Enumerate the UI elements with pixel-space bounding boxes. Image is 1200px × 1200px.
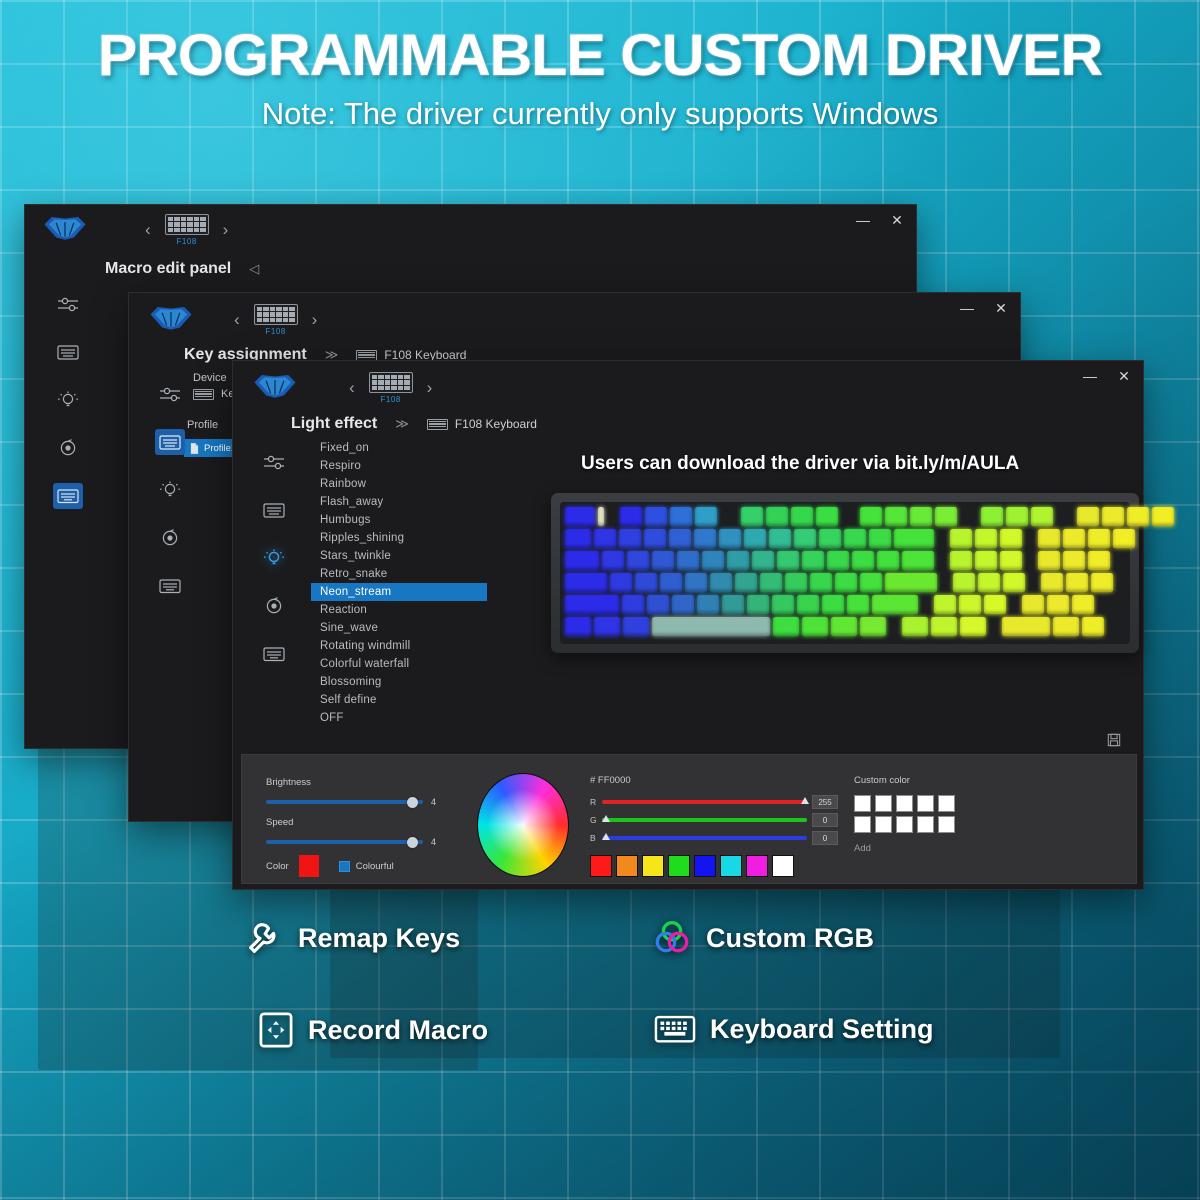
rgb-slider-knob[interactable]: [602, 833, 610, 840]
keyboard-key[interactable]: [772, 595, 794, 614]
light-effect-item[interactable]: Ripples_shining: [311, 529, 487, 547]
colourful-label: Colourful: [356, 861, 394, 872]
keyboard-key[interactable]: [565, 551, 599, 570]
light-effect-item[interactable]: Colorful waterfall: [311, 655, 487, 673]
keyboard-key[interactable]: [816, 507, 838, 526]
keyboard-key[interactable]: [741, 507, 763, 526]
light-effect-item[interactable]: Stars_twinkle: [311, 547, 487, 565]
keyboard-key[interactable]: [1152, 507, 1174, 526]
window-light-effect[interactable]: — ✕ ‹ F108 › Light effect ≫ F108 Keyboar…: [232, 360, 1144, 890]
device-thumb-keyassign[interactable]: F108: [254, 304, 298, 336]
sidebar-item-key-assignment[interactable]: [259, 497, 289, 523]
keyboard-key[interactable]: [981, 507, 1003, 526]
mini-keyboard-icon: [427, 419, 448, 430]
custom-color-label: Custom color: [854, 775, 955, 786]
custom-color-slot[interactable]: [896, 816, 913, 833]
keyboard-key[interactable]: [794, 529, 816, 548]
rgb-row-r[interactable]: R255: [590, 795, 838, 809]
custom-color-section[interactable]: Custom color Add: [854, 775, 955, 854]
keyboard-key[interactable]: [1000, 551, 1022, 570]
feature-label: Keyboard Setting: [710, 1014, 934, 1045]
keyboard-key[interactable]: [910, 507, 932, 526]
preset-color-swatch[interactable]: [720, 855, 742, 877]
breadcrumb-device-label: F108 Keyboard: [455, 417, 537, 431]
color-wheel[interactable]: [477, 773, 569, 877]
keyboard-key[interactable]: [984, 595, 1006, 614]
keyboard-key[interactable]: [1102, 507, 1124, 526]
device-name-label: F108: [369, 395, 413, 404]
keyboard-key[interactable]: [937, 529, 947, 548]
brightness-value: 4: [431, 797, 436, 807]
custom-color-slot[interactable]: [875, 816, 892, 833]
rgb-value-field[interactable]: 0: [812, 831, 838, 845]
feature-label: Custom RGB: [706, 923, 874, 954]
keyboard-key[interactable]: [835, 573, 857, 592]
sidebar-keyassign[interactable]: [147, 381, 193, 599]
sidebar-light[interactable]: [251, 449, 297, 667]
sidebar-item-settings[interactable]: [259, 449, 289, 475]
color-label: Color: [266, 861, 289, 872]
rgb-slider[interactable]: [602, 836, 807, 840]
rgb-slider-knob[interactable]: [602, 815, 610, 822]
keyboard-row: [565, 551, 1125, 570]
rgb-slider-rows[interactable]: R255G0B0: [590, 795, 838, 845]
keyboard-key[interactable]: [1025, 529, 1035, 548]
rgb-control-strip[interactable]: Brightness 4 Speed 4 Color Colour: [241, 754, 1137, 884]
rgb-row-g[interactable]: G0: [590, 813, 838, 827]
light-effect-item[interactable]: Blossoming: [311, 673, 487, 691]
keyboard-key[interactable]: [1031, 507, 1053, 526]
sidebar-item-keyboard-setting[interactable]: [53, 483, 83, 509]
keyboard-key[interactable]: [1088, 529, 1110, 548]
preset-color-swatch[interactable]: [694, 855, 716, 877]
prev-device-button[interactable]: ‹: [234, 310, 240, 330]
rgb-slider[interactable]: [602, 800, 807, 804]
keyboard-key[interactable]: [841, 507, 857, 526]
color-presets[interactable]: [590, 855, 838, 877]
keyboard-key[interactable]: [960, 507, 978, 526]
sidebar-item-settings[interactable]: [155, 381, 185, 407]
keyboard-key[interactable]: [894, 529, 934, 548]
keyboard-key[interactable]: [672, 595, 694, 614]
keyboard-key[interactable]: [885, 573, 937, 592]
collapse-icon[interactable]: ◁: [249, 261, 259, 277]
keyboard-key[interactable]: [695, 507, 717, 526]
rgb-circles-icon: [652, 918, 692, 958]
keyboard-key[interactable]: [1038, 551, 1060, 570]
keyboard-key[interactable]: [902, 551, 934, 570]
prev-device-button[interactable]: ‹: [145, 220, 151, 240]
custom-color-slot[interactable]: [938, 816, 955, 833]
checkbox-box-icon[interactable]: [339, 861, 350, 872]
keyboard-key[interactable]: [669, 529, 691, 548]
custom-color-slot[interactable]: [917, 816, 934, 833]
custom-color-slot[interactable]: [917, 795, 934, 812]
keyboard-key[interactable]: [652, 617, 770, 636]
brightness-control[interactable]: Brightness 4: [266, 777, 436, 807]
keyboard-key[interactable]: [1056, 507, 1074, 526]
save-icon[interactable]: [1107, 733, 1121, 752]
keyboard-preview[interactable]: [551, 493, 1139, 653]
keyboard-key[interactable]: [694, 529, 716, 548]
headline-block: PROGRAMMABLE CUSTOM DRIVER Note: The dri…: [0, 26, 1200, 132]
preset-color-swatch[interactable]: [746, 855, 768, 877]
keyboard-key[interactable]: [902, 617, 928, 636]
keyboard-thumb-icon: [254, 304, 298, 325]
sidebar-macro[interactable]: [45, 291, 91, 509]
keyboard-key[interactable]: [610, 573, 632, 592]
next-device-button[interactable]: ›: [312, 310, 318, 330]
keyboard-key[interactable]: [773, 617, 799, 636]
keyboard-key[interactable]: [1066, 573, 1088, 592]
minimize-button[interactable]: —: [854, 211, 872, 229]
light-effect-item[interactable]: Rainbow: [311, 475, 487, 493]
light-effect-item[interactable]: Self define: [311, 691, 487, 709]
rgb-channel-label: B: [590, 833, 597, 843]
keyboard-key[interactable]: [644, 529, 666, 548]
keyboard-key[interactable]: [953, 573, 975, 592]
keyboard-key[interactable]: [827, 551, 849, 570]
device-name-label: F108: [254, 327, 298, 336]
keyboard-key[interactable]: [697, 595, 719, 614]
keyboard-key[interactable]: [877, 551, 899, 570]
keyboard-key[interactable]: [565, 617, 591, 636]
keyboard-key[interactable]: [989, 617, 999, 636]
keyboard-key[interactable]: [777, 551, 799, 570]
keyboard-key[interactable]: [785, 573, 807, 592]
keyboard-key[interactable]: [766, 507, 788, 526]
device-carousel-keyassign[interactable]: ‹ F108 ›: [234, 304, 317, 336]
keyboard-key[interactable]: [1025, 551, 1035, 570]
brightness-label: Brightness: [266, 777, 436, 788]
keyboard-key[interactable]: [752, 551, 774, 570]
rgb-slider-knob[interactable]: [801, 797, 809, 804]
keyboard-key[interactable]: [1072, 595, 1094, 614]
keyboard-thumb-icon: [369, 372, 413, 393]
keyboard-key[interactable]: [565, 529, 591, 548]
light-effect-item[interactable]: Rotating windmill: [311, 637, 487, 655]
keyboard-key[interactable]: [685, 573, 707, 592]
keyboard-key[interactable]: [791, 507, 813, 526]
keyboard-key[interactable]: [645, 507, 667, 526]
keyboard-key[interactable]: [934, 595, 956, 614]
device-name-label: F108: [165, 237, 209, 246]
rgb-section[interactable]: # FF0000 R255G0B0: [590, 775, 838, 877]
keyboard-key[interactable]: [822, 595, 844, 614]
keyboard-key[interactable]: [594, 617, 620, 636]
custom-color-slot[interactable]: [875, 795, 892, 812]
preset-color-swatch[interactable]: [590, 855, 612, 877]
brand-logo-icon: [149, 305, 193, 331]
sidebar-item-macro-record[interactable]: [259, 593, 289, 619]
keyboard-key[interactable]: [872, 595, 918, 614]
color-row[interactable]: Color Colourful: [266, 855, 394, 877]
current-color-swatch[interactable]: [299, 855, 319, 877]
keyboard-key[interactable]: [810, 573, 832, 592]
rgb-channel-label: G: [590, 815, 597, 825]
sidebar-item-key-assignment[interactable]: [155, 429, 185, 455]
light-effect-item[interactable]: Neon_stream: [311, 583, 487, 601]
keyboard-key[interactable]: [720, 507, 738, 526]
speed-control[interactable]: Speed 4: [266, 817, 436, 847]
sidebar-item-key-assignment[interactable]: [53, 339, 83, 365]
keyboard-row: [565, 573, 1125, 592]
light-effect-item[interactable]: Sine_wave: [311, 619, 487, 637]
keyboard-key[interactable]: [940, 573, 950, 592]
feature-custom-rgb: Custom RGB: [652, 918, 874, 958]
keyboard-key[interactable]: [620, 507, 642, 526]
add-custom-color-label[interactable]: Add: [854, 843, 955, 854]
keyboard-key[interactable]: [747, 595, 769, 614]
sidebar-item-keyboard-setting[interactable]: [259, 641, 289, 667]
keyboard-key[interactable]: [1041, 573, 1063, 592]
speed-value: 4: [431, 837, 436, 847]
mini-keyboard-icon: [193, 389, 214, 400]
device-thumb-light[interactable]: F108: [369, 372, 413, 404]
custom-color-slot[interactable]: [896, 795, 913, 812]
keyboard-key[interactable]: [719, 529, 741, 548]
keyboard-key[interactable]: [937, 551, 947, 570]
window-buttons-light[interactable]: — ✕: [1081, 367, 1133, 385]
sidebar-item-settings[interactable]: [53, 291, 83, 317]
keyboard-key[interactable]: [847, 595, 869, 614]
feature-label: Record Macro: [308, 1015, 488, 1046]
rgb-value-field[interactable]: 255: [812, 795, 838, 809]
keyboard-key[interactable]: [869, 529, 891, 548]
keyboard-icon: [654, 1010, 696, 1048]
keyboard-key[interactable]: [889, 617, 899, 636]
keyboard-key[interactable]: [852, 551, 874, 570]
prev-device-button[interactable]: ‹: [349, 378, 355, 398]
rgb-value-field[interactable]: 0: [812, 813, 838, 827]
keyboard-key[interactable]: [623, 617, 649, 636]
keyboard-key[interactable]: [935, 507, 957, 526]
keyboard-key[interactable]: [677, 551, 699, 570]
keyboard-key[interactable]: [1000, 529, 1022, 548]
custom-color-slot[interactable]: [854, 795, 871, 812]
keyboard-key[interactable]: [652, 551, 674, 570]
keyboard-key[interactable]: [860, 507, 882, 526]
keyboard-key[interactable]: [931, 617, 957, 636]
keyboard-key[interactable]: [702, 551, 724, 570]
keyboard-key[interactable]: [565, 573, 607, 592]
window-buttons-keyassign[interactable]: — ✕: [958, 299, 1010, 317]
keyboard-key[interactable]: [660, 573, 682, 592]
keyboard-key[interactable]: [722, 595, 744, 614]
preset-color-swatch[interactable]: [616, 855, 638, 877]
brightness-slider-knob[interactable]: [407, 797, 418, 808]
feature-record-macro: Record Macro: [258, 1010, 488, 1050]
device-carousel-light[interactable]: ‹ F108 ›: [349, 372, 432, 404]
speed-slider[interactable]: [266, 840, 423, 844]
keyboard-key[interactable]: [921, 595, 931, 614]
macro-panel-title: Macro edit panel: [105, 260, 231, 278]
keyboard-key[interactable]: [1047, 595, 1069, 614]
speed-label: Speed: [266, 817, 436, 828]
macro-panel-header: Macro edit panel ◁: [105, 260, 259, 278]
custom-color-grid[interactable]: [854, 795, 955, 833]
custom-color-slot[interactable]: [938, 795, 955, 812]
hex-value-label: # FF0000: [590, 775, 838, 786]
sidebar-item-light-effect[interactable]: [259, 545, 289, 571]
keyboard-key[interactable]: [565, 595, 619, 614]
mini-keyboard-icon: [356, 350, 377, 361]
sidebar-item-keyboard-setting[interactable]: [155, 573, 185, 599]
wrench-icon: [244, 918, 284, 958]
minimize-button[interactable]: —: [1081, 367, 1099, 385]
keyboard-key[interactable]: [844, 529, 866, 548]
keyboard-key[interactable]: [860, 573, 882, 592]
keyboard-key[interactable]: [959, 595, 981, 614]
light-effect-list[interactable]: Fixed_onRespiroRainbowFlash_awayHumbugsR…: [311, 439, 487, 727]
brand-logo-icon: [253, 373, 297, 399]
preset-color-swatch[interactable]: [668, 855, 690, 877]
rgb-channel-label: R: [590, 797, 597, 807]
device-carousel-macro[interactable]: ‹ F108 ›: [145, 214, 228, 246]
keyboard-key[interactable]: [1082, 617, 1104, 636]
feature-label: Remap Keys: [298, 923, 460, 954]
keyboard-key[interactable]: [710, 573, 732, 592]
next-device-button[interactable]: ›: [223, 220, 229, 240]
light-panel-title: Light effect: [291, 415, 377, 433]
light-effect-item[interactable]: Retro_snake: [311, 565, 487, 583]
device-thumb-macro[interactable]: F108: [165, 214, 209, 246]
keyboard-key[interactable]: [1053, 617, 1079, 636]
keyboard-key[interactable]: [1003, 573, 1025, 592]
keyboard-thumb-icon: [165, 214, 209, 235]
close-button[interactable]: ✕: [888, 211, 906, 229]
keyboard-key[interactable]: [802, 551, 824, 570]
keyboard-key[interactable]: [975, 551, 997, 570]
keyboard-key[interactable]: [1091, 573, 1113, 592]
breadcrumb-chevron-icon: ≫: [395, 416, 409, 432]
keyboard-key[interactable]: [622, 595, 644, 614]
colourful-checkbox[interactable]: Colourful: [339, 861, 394, 872]
page-subtitle: Note: The driver currently only supports…: [0, 96, 1200, 132]
keyboard-key[interactable]: [1022, 595, 1044, 614]
keyboard-key[interactable]: [619, 529, 641, 548]
keyboard-key[interactable]: [797, 595, 819, 614]
speed-slider-knob[interactable]: [407, 837, 418, 848]
keyboard-row: [565, 617, 1125, 636]
rgb-slider[interactable]: [602, 818, 807, 822]
keyboard-key[interactable]: [769, 529, 791, 548]
light-effect-item[interactable]: Fixed_on: [311, 439, 487, 457]
keyboard-key[interactable]: [885, 507, 907, 526]
dpad-record-icon: [258, 1010, 294, 1050]
keyboard-row: [565, 507, 1125, 526]
keyboard-key[interactable]: [635, 573, 657, 592]
page-title: PROGRAMMABLE CUSTOM DRIVER: [0, 26, 1200, 87]
keyboard-key[interactable]: [647, 595, 669, 614]
keyboard-key[interactable]: [744, 529, 766, 548]
next-device-button[interactable]: ›: [427, 378, 433, 398]
keyboard-key[interactable]: [627, 551, 649, 570]
brightness-slider[interactable]: [266, 800, 423, 804]
keyboard-key[interactable]: [607, 507, 617, 526]
keyboard-key[interactable]: [950, 551, 972, 570]
keyboard-key[interactable]: [1002, 617, 1050, 636]
keyboard-key[interactable]: [1009, 595, 1019, 614]
light-effect-item[interactable]: Reaction: [311, 601, 487, 619]
keyboard-key[interactable]: [598, 507, 604, 526]
keyboard-key[interactable]: [1063, 551, 1085, 570]
preset-color-swatch[interactable]: [772, 855, 794, 877]
keyboard-key[interactable]: [1113, 529, 1135, 548]
feature-remap-keys: Remap Keys: [244, 918, 460, 958]
keyboard-key[interactable]: [978, 573, 1000, 592]
keyboard-key[interactable]: [975, 529, 997, 548]
keyboard-key[interactable]: [1127, 507, 1149, 526]
keyboard-key[interactable]: [602, 551, 624, 570]
light-effect-item[interactable]: Respiro: [311, 457, 487, 475]
keyboard-key[interactable]: [802, 617, 828, 636]
keyboard-key[interactable]: [727, 551, 749, 570]
close-button[interactable]: ✕: [992, 299, 1010, 317]
minimize-button[interactable]: —: [958, 299, 976, 317]
sidebar-item-light-effect[interactable]: [53, 387, 83, 413]
keyboard-row: [565, 595, 1125, 614]
keyboard-key[interactable]: [735, 573, 757, 592]
light-effect-item[interactable]: OFF: [311, 709, 487, 727]
light-panel-header: Light effect ≫ F108 Keyboard: [291, 415, 537, 433]
keyboard-key[interactable]: [819, 529, 841, 548]
light-effect-item[interactable]: Flash_away: [311, 493, 487, 511]
rgb-row-b[interactable]: B0: [590, 831, 838, 845]
close-button[interactable]: ✕: [1115, 367, 1133, 385]
sidebar-item-macro-record[interactable]: [155, 525, 185, 551]
keyboard-row: [565, 529, 1125, 548]
keyboard-key[interactable]: [565, 507, 595, 526]
window-buttons-macro[interactable]: — ✕: [854, 211, 906, 229]
keyboard-key[interactable]: [1077, 507, 1099, 526]
keyboard-key[interactable]: [860, 617, 886, 636]
keyboard-key[interactable]: [594, 529, 616, 548]
download-note: Users can download the driver via bit.ly…: [581, 453, 1019, 475]
keyboard-key[interactable]: [950, 529, 972, 548]
keyboard-key[interactable]: [831, 617, 857, 636]
keyboard-key[interactable]: [1088, 551, 1110, 570]
keyboard-key[interactable]: [1038, 529, 1060, 548]
keyboard-key[interactable]: [670, 507, 692, 526]
breadcrumb-device: F108 Keyboard: [427, 417, 537, 431]
sidebar-item-macro-record[interactable]: [53, 435, 83, 461]
keyboard-key[interactable]: [1028, 573, 1038, 592]
custom-color-slot[interactable]: [854, 816, 871, 833]
keyboard-key[interactable]: [1006, 507, 1028, 526]
keyboard-key[interactable]: [760, 573, 782, 592]
preset-color-swatch[interactable]: [642, 855, 664, 877]
brand-logo-icon: [43, 215, 87, 241]
feature-keyboard-setting: Keyboard Setting: [654, 1010, 934, 1048]
sidebar-item-light-effect[interactable]: [155, 477, 185, 503]
keyboard-key[interactable]: [960, 617, 986, 636]
keyboard-deck: [560, 502, 1130, 644]
light-effect-item[interactable]: Humbugs: [311, 511, 487, 529]
keyboard-key[interactable]: [1063, 529, 1085, 548]
